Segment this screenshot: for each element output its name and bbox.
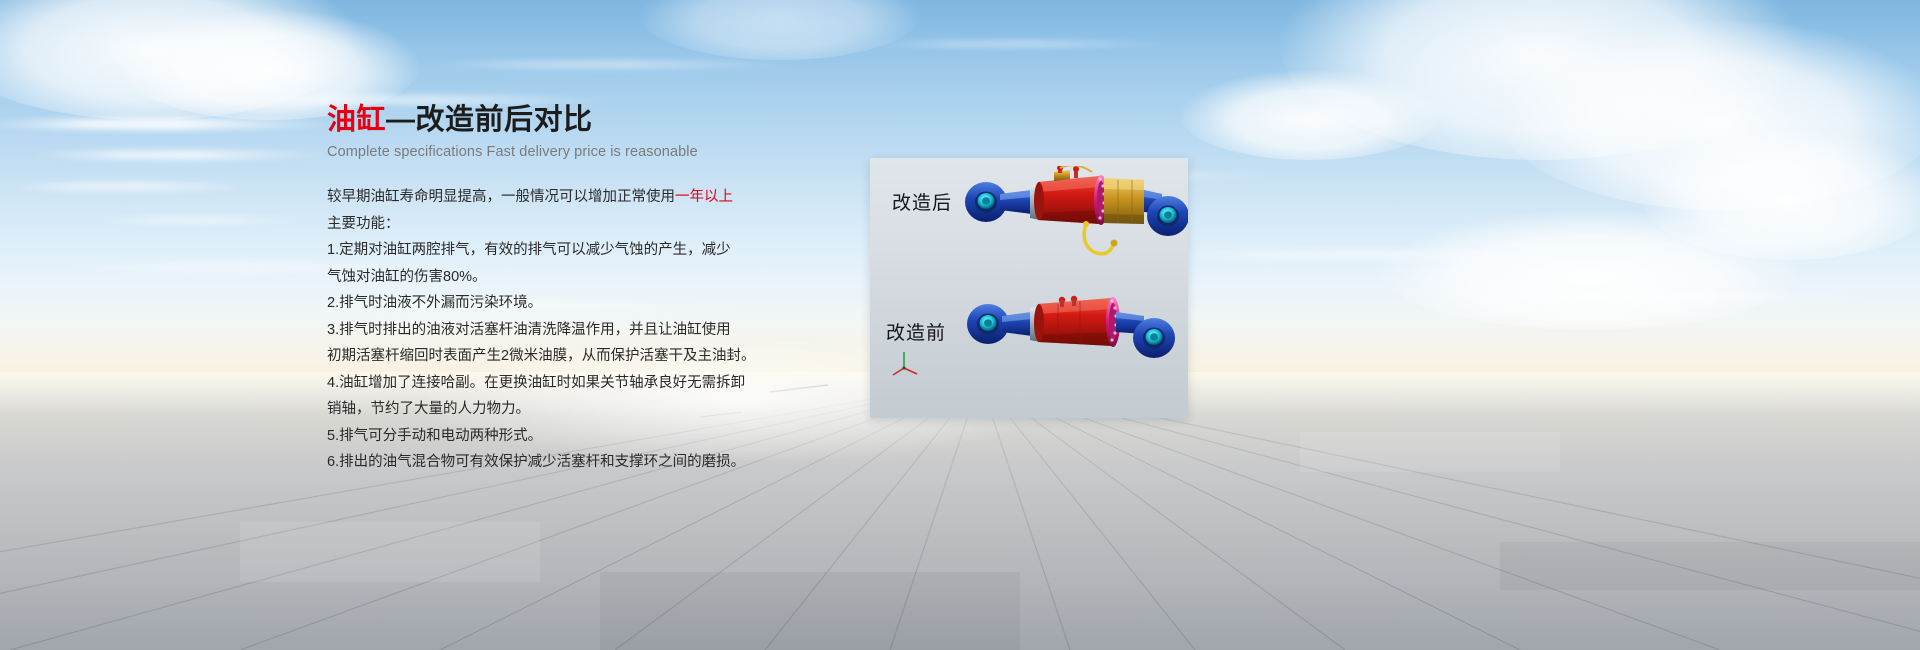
cloud-wisp: [860, 40, 1180, 48]
cloud-wisp: [1420, 292, 1880, 303]
cloud-shape: [1180, 70, 1440, 160]
intro-text: 较早期油缸寿命明显提高，一般情况可以增加正常使用: [327, 189, 675, 205]
feature-item-cont: 气蚀对油缸的伤害80%。: [327, 264, 847, 291]
cloud-wisp: [0, 182, 260, 191]
page-title-highlight: 油缸: [327, 104, 386, 136]
cloud-shape: [0, 0, 360, 120]
page-title: 油缸—改造前后对比: [327, 104, 847, 137]
cloud-wisp: [0, 118, 340, 130]
cylinder-before-modification: [962, 286, 1188, 406]
intro-line: 较早期油缸寿命明显提高，一般情况可以增加正常使用一年以上: [327, 184, 847, 211]
cloud-wisp: [30, 150, 330, 160]
cloud-wisp: [420, 60, 800, 69]
feature-item-cont: 销轴，节约了大量的人力物力。: [327, 396, 847, 423]
cloud-wisp: [90, 216, 310, 224]
label-before-modification: 改造前: [886, 318, 946, 345]
banner-text-block: 油缸—改造前后对比 Complete specifications Fast d…: [327, 104, 847, 476]
feature-item: 1.定期对油缸两腔排气，有效的排气可以减少气蚀的产生，减少: [327, 237, 847, 264]
banner-stage: 油缸—改造前后对比 Complete specifications Fast d…: [0, 0, 1920, 650]
cloud-shape: [1380, 210, 1800, 330]
page-title-rest: —改造前后对比: [386, 104, 593, 136]
cloud-shape: [1640, 130, 1920, 260]
feature-item: 2.排气时油液不外漏而污染环境。: [327, 290, 847, 317]
feature-item-cont: 初期活塞杆缩回时表面产生2微米油膜，从而保护活塞干及主油封。: [327, 343, 847, 370]
cylinder-comparison-panel: 改造后 改造前: [870, 158, 1188, 418]
axis-triad-icon: [890, 344, 924, 378]
features-heading: 主要功能：: [327, 211, 847, 238]
feature-item: 6.排出的油气混合物可有效保护减少活塞杆和支撑环之间的磨损。: [327, 449, 847, 476]
label-after-modification: 改造后: [892, 188, 952, 215]
feature-description: 较早期油缸寿命明显提高，一般情况可以增加正常使用一年以上 主要功能： 1.定期对…: [327, 184, 847, 476]
page-subtitle: Complete specifications Fast delivery pr…: [327, 144, 847, 160]
cloud-shape: [1280, 0, 1800, 160]
feature-item: 3.排气时排出的油液对活塞杆油清洗降温作用，并且让油缸使用: [327, 317, 847, 344]
feature-item: 4.油缸增加了连接哈副。在更换油缸时如果关节轴承良好无需拆卸: [327, 370, 847, 397]
cloud-shape: [1500, 20, 1920, 210]
intro-highlight: 一年以上: [675, 189, 733, 205]
cloud-wisp: [1150, 250, 1570, 260]
cloud-shape: [640, 0, 920, 60]
feature-item: 5.排气可分手动和电动两种形式。: [327, 423, 847, 450]
cylinder-after-modification: [958, 166, 1188, 286]
